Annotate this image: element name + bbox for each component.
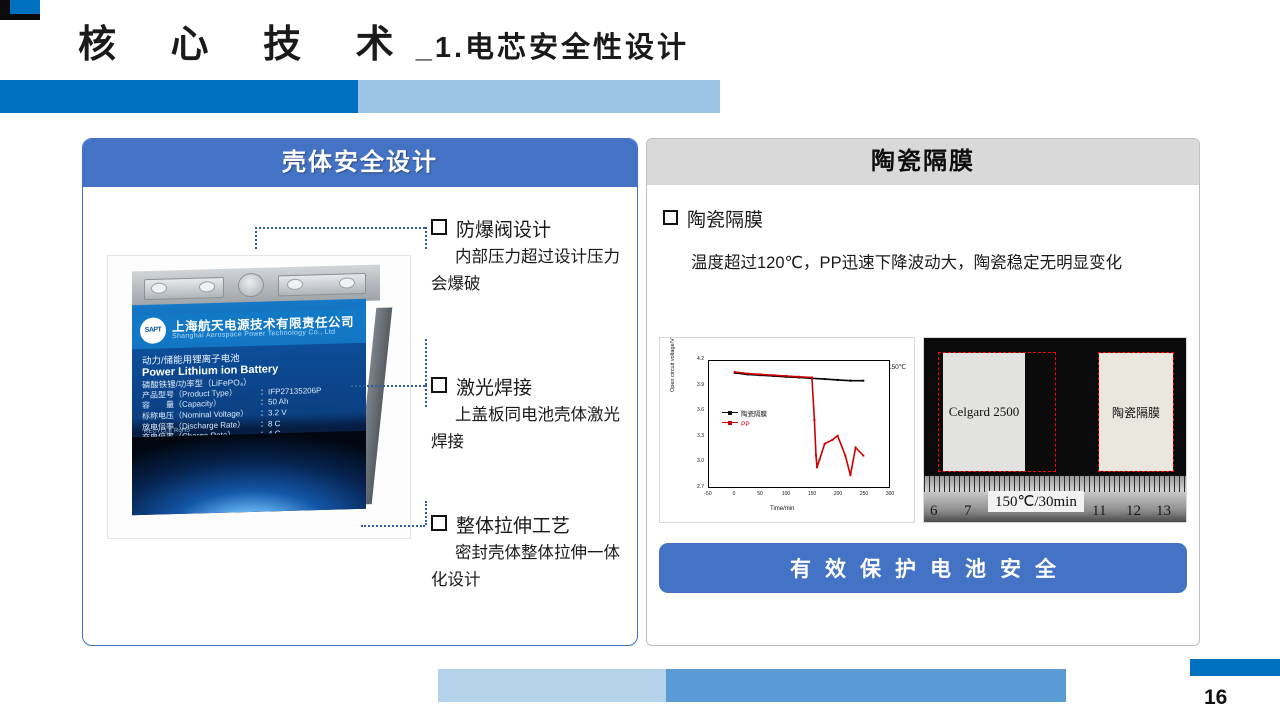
chart-annotation: 150℃ (888, 363, 906, 371)
feature-laser-welding: 激光焊接 上盖板同电池壳体激光焊接 (431, 373, 635, 456)
square-bullet-icon (431, 219, 447, 235)
connector-line-2-drop (425, 385, 427, 407)
chart-point (734, 371, 736, 373)
ocv-chart: 石墨/三元扣式电池 150℃ Open circuit voltage/V Ti… (659, 337, 915, 523)
chart-x-tick: -50 (701, 491, 715, 497)
safety-vent-icon (238, 273, 264, 298)
connector-line-2-v (425, 339, 427, 385)
battery-brand-band: SAPT 上海航天电源技术有限责任公司 Shanghai Aerospace P… (132, 309, 366, 350)
chart-x-tick: 150 (805, 491, 819, 497)
right-bullet-title-row: 陶瓷隔膜 (663, 205, 763, 232)
page-title-main: 核 心 技 术 (78, 24, 416, 66)
footer-accent-blue (1190, 659, 1280, 676)
feature-deep-drawing: 整体拉伸工艺 密封壳体整体拉伸一体化设计 (431, 511, 635, 594)
feature-3-title-row: 整体拉伸工艺 (431, 511, 635, 538)
legend-entry-ceramic: 陶瓷隔膜 (722, 410, 767, 420)
chart-y-tick: 3.3 (688, 433, 704, 439)
feature-1-title: 防爆阀设计 (456, 220, 551, 241)
chart-point (815, 455, 817, 457)
terminal-screw-left-b (199, 281, 215, 292)
ruler-number: 13 (1156, 503, 1171, 520)
footer-bar-mid (666, 669, 1066, 702)
chart-point (798, 376, 800, 378)
chart-point (855, 447, 857, 449)
feature-2-body: 上盖板同电池壳体激光焊接 (431, 402, 635, 456)
header-bar-dark (0, 80, 358, 113)
chart-point (772, 374, 774, 376)
page-title: 核 心 技 术_1.电芯安全性设计 (78, 18, 878, 72)
page-number: 16 (1204, 686, 1227, 710)
condition-label: 150℃/30min (988, 491, 1084, 512)
sample-ceramic: 陶瓷隔膜 (1098, 352, 1174, 472)
panel-ceramic-separator: 陶瓷隔膜 陶瓷隔膜 温度超过120℃，PP迅速下降波动大，陶瓷稳定无明显变化 石… (646, 138, 1200, 646)
connector-line-3-v (425, 501, 427, 525)
chart-point (862, 380, 864, 382)
media-row: 石墨/三元扣式电池 150℃ Open circuit voltage/V Ti… (659, 337, 1187, 523)
corner-decoration-blue (10, 0, 40, 14)
chart-y-tick: 2.7 (688, 484, 704, 490)
feature-2-title-row: 激光焊接 (431, 373, 635, 400)
battery-photo: SAPT 上海航天电源技术有限责任公司 Shanghai Aerospace P… (107, 255, 411, 539)
connector-line-3-h (361, 525, 425, 527)
chart-x-tick: 250 (857, 491, 871, 497)
sample-ceramic-label: 陶瓷隔膜 (1099, 353, 1173, 471)
feature-2-title: 激光焊接 (456, 378, 532, 399)
chart-point (849, 380, 851, 382)
connector-line-1-v (425, 227, 427, 249)
chart-y-tick: 4.2 (688, 356, 704, 362)
ruler-number: 11 (1092, 503, 1106, 520)
chart-x-tick: 100 (779, 491, 793, 497)
feature-3-title: 整体拉伸工艺 (456, 516, 570, 537)
battery-spec-value: ：8 C (260, 419, 280, 430)
panel-right-header: 陶瓷隔膜 (647, 139, 1199, 185)
chart-point (785, 375, 787, 377)
right-bullet-body: 温度超过120℃，PP迅速下降波动大，陶瓷稳定无明显变化 (691, 249, 1122, 273)
feature-3-body: 密封壳体整体拉伸一体化设计 (431, 540, 635, 594)
chart-point (824, 443, 826, 445)
chart-point (813, 419, 815, 421)
chart-x-tick: 0 (727, 491, 741, 497)
chart-point (837, 435, 839, 437)
panel-left-header: 壳体安全设计 (83, 139, 637, 187)
chart-point (831, 439, 833, 441)
battery-spec-value: ：IFP27135206P (260, 386, 321, 398)
chart-x-tick: 50 (753, 491, 767, 497)
legend-marker-icon (722, 412, 738, 413)
feature-explosion-vent: 防爆阀设计 内部压力超过设计压力会爆破 (431, 215, 635, 298)
ruler-number: 12 (1126, 503, 1141, 520)
battery-spec-value: ：50 Ah (260, 397, 288, 408)
chart-x-axis-label: Time/min (770, 506, 794, 512)
battery-front-label: SAPT 上海航天电源技术有限责任公司 Shanghai Aerospace P… (132, 299, 366, 516)
sapt-logo-icon: SAPT (140, 317, 166, 344)
chart-point (844, 455, 846, 457)
panel-shell-safety-design: 壳体安全设计 SAPT (82, 138, 638, 646)
header-bar-light (358, 80, 720, 113)
chart-point (747, 373, 749, 375)
connector-line-1-h (255, 227, 425, 229)
chart-y-axis-label: Open circuit voltage/V (670, 338, 676, 392)
square-bullet-icon (431, 515, 447, 531)
chart-y-tick: 3.6 (688, 407, 704, 413)
ruler-number: 7 (964, 503, 972, 520)
battery-illustration: SAPT 上海航天电源技术有限责任公司 Shanghai Aerospace P… (128, 268, 388, 520)
legend-label-ceramic: 陶瓷隔膜 (741, 411, 767, 418)
slide-root: 核 心 技 术_1.电芯安全性设计 壳体安全设计 (0, 0, 1280, 720)
sample-celgard-label: Celgard 2500 (943, 353, 1025, 471)
page-title-sub: _1.电芯安全性设计 (416, 32, 689, 64)
ruler-number: 6 (930, 503, 938, 520)
terminal-screw-right-b (339, 277, 355, 288)
square-bullet-icon (663, 210, 678, 225)
legend-entry-pp: PP (722, 420, 767, 430)
chart-point (849, 474, 851, 476)
battery-certification-icons: RECYCLE RoHS (144, 428, 190, 435)
footer-bar-light (438, 669, 666, 702)
chart-point (862, 455, 864, 457)
battery-earth-graphic (132, 431, 366, 516)
chart-legend: 陶瓷隔膜 PP (722, 410, 767, 430)
chart-x-tick: 300 (883, 491, 897, 497)
chart-x-tick: 200 (831, 491, 845, 497)
chart-point (824, 378, 826, 380)
chart-point (837, 379, 839, 381)
chart-point (811, 377, 813, 379)
connector-line-1-drop (255, 227, 257, 249)
ruler-ticks (924, 476, 1186, 492)
feature-1-title-row: 防爆阀设计 (431, 215, 635, 242)
chart-point (759, 373, 761, 375)
terminal-screw-right-a (287, 279, 303, 290)
connector-line-2-h (351, 385, 425, 387)
legend-label-pp: PP (741, 421, 750, 428)
legend-marker-icon (722, 422, 738, 423)
chart-point (816, 466, 818, 468)
right-bullet-title: 陶瓷隔膜 (687, 210, 763, 231)
chart-point (819, 458, 821, 460)
square-bullet-icon (431, 377, 447, 393)
feature-1-body: 内部压力超过设计压力会爆破 (431, 244, 635, 298)
chart-y-tick: 3.9 (688, 382, 704, 388)
battery-terminal-right (278, 273, 366, 296)
chart-y-tick: 3.0 (688, 458, 704, 464)
sample-celgard: Celgard 2500 (938, 352, 1056, 472)
battery-spec-value: ：3.2 V (260, 408, 287, 419)
terminal-screw-left-a (151, 282, 167, 293)
separator-comparison-photo: Celgard 2500 陶瓷隔膜 6 7 11 12 13 150℃/30mi… (923, 337, 1187, 523)
battery-terminal-left (144, 277, 224, 300)
cta-banner: 有效保护电池安全 (659, 543, 1187, 593)
